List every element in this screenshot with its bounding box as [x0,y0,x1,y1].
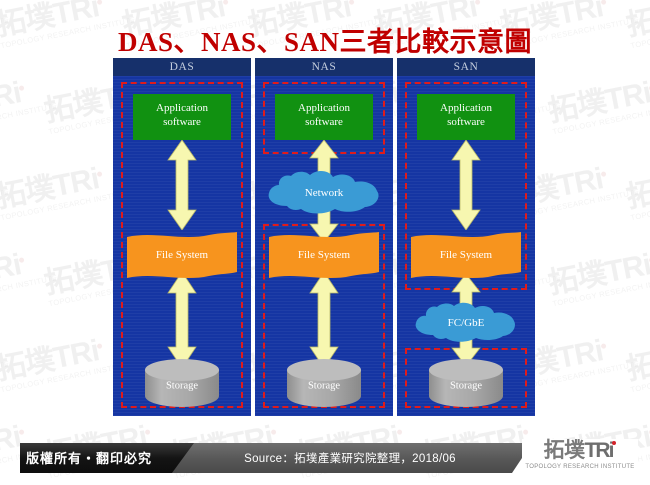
san-application-line1: Application [417,101,515,115]
column-header-das: DAS [113,58,251,76]
copyright-notice: 版權所有・翻印必究 [26,448,152,467]
comparison-diagram: DAS Application software [113,58,535,416]
tri-logo-cjk: 拓墣 [544,439,585,462]
watermark-logo: 拓墣TRiTOPOLOGY RESEARCH INSTITUTE [546,247,650,342]
page-title: DAS、NAS、SAN三者比較示意圖 [0,20,650,59]
column-body-san: Application software File System [397,76,535,416]
nas-storage-cylinder: Storage [287,359,361,407]
watermark-logo: 拓墣TRiTOPOLOGY RESEARCH INSTITUTE [0,247,46,342]
watermark-logo: 拓墣TRiTOPOLOGY RESEARCH INSTITUTE [0,333,124,428]
watermark-logo: 拓墣TRiTOPOLOGY RESEARCH INSTITUTE [624,161,650,256]
san-application-line2: software [417,115,515,129]
column-san: SAN Application software [397,58,535,416]
tri-logo-latin: TRi [585,439,613,462]
das-application-box: Application software [133,94,231,140]
das-storage-cylinder: Storage [145,359,219,407]
column-das: DAS Application software [113,58,251,416]
nas-application-line1: Application [275,101,373,115]
das-filesystem-banner: File System [127,231,237,279]
watermark-logo: 拓墣TRiTOPOLOGY RESEARCH INSTITUTE [0,75,46,170]
source-note: Source：拓墣產業研究院整理，2018/06 [200,450,500,466]
san-filesystem-banner: File System [411,231,521,279]
watermark-logo: 拓墣TRiTOPOLOGY RESEARCH INSTITUTE [624,333,650,428]
tri-logo-wordmark: 拓墣TRi [522,439,638,463]
slide-canvas: 拓墣TRiTOPOLOGY RESEARCH INSTITUTE拓墣TRiTOP… [0,0,650,485]
san-fabric-cloud: FC/GbE [413,302,519,344]
san-arrow-app-fs [451,140,481,230]
san-storage-cylinder: Storage [429,359,503,407]
nas-filesystem-banner: File System [269,231,379,279]
footer: 版權所有・翻印必究 Source：拓墣產業研究院整理，2018/06 拓墣TRi… [0,433,650,485]
column-nas: NAS Application software [255,58,393,416]
san-application-box: Application software [417,94,515,140]
tri-logo: 拓墣TRi TOPOLOGY RESEARCH INSTITUTE [522,439,638,479]
das-arrow-app-fs [167,140,197,230]
das-application-line1: Application [133,101,231,115]
das-application-line2: software [133,115,231,129]
tri-logo-subtitle: TOPOLOGY RESEARCH INSTITUTE [522,464,638,470]
column-body-das: Application software File System [113,76,251,416]
column-header-nas: NAS [255,58,393,76]
column-body-nas: Application software Network [255,76,393,416]
das-arrow-fs-storage [167,272,197,368]
tri-logo-dot-icon [612,441,616,445]
column-header-san: SAN [397,58,535,76]
nas-network-cloud: Network [265,170,383,216]
watermark-logo: 拓墣TRiTOPOLOGY RESEARCH INSTITUTE [546,75,650,170]
watermark-logo: 拓墣TRiTOPOLOGY RESEARCH INSTITUTE [0,161,124,256]
nas-application-box: Application software [275,94,373,140]
nas-arrow-fs-storage [309,272,339,368]
nas-application-line2: software [275,115,373,129]
